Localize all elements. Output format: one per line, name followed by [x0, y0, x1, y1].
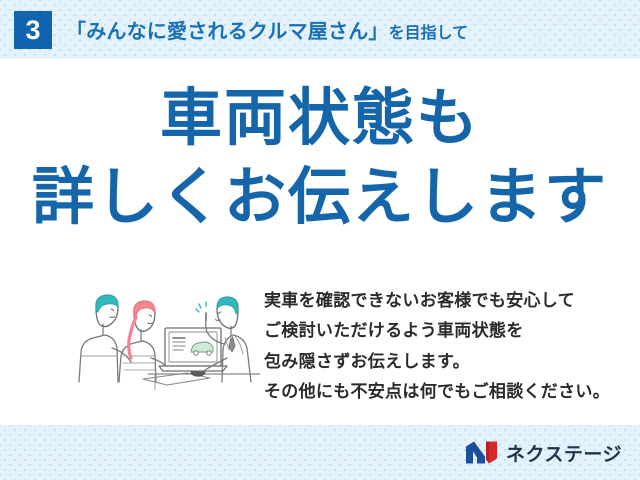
body-copy-line-2: ご検討いただけるよう車両状態を: [264, 316, 624, 346]
header-title-tail: を目指して: [389, 19, 469, 43]
banner-header: 3 「みんなに愛されるクルマ屋さん」を目指して: [0, 0, 640, 59]
body-copy-line-4: その他にも不安点は何でもご相談ください。: [264, 377, 624, 407]
body-copy-line-1: 実車を確認できないお客様でも安心して: [264, 286, 624, 316]
consultation-illustration-svg: [55, 278, 260, 390]
section-number-badge: 3: [14, 11, 52, 49]
nextage-n-logo-icon: [465, 441, 499, 465]
header-title-main: 「みんなに愛されるクルマ屋さん」: [66, 15, 389, 44]
header-title: 「みんなに愛されるクルマ屋さん」を目指して: [66, 15, 468, 44]
body-copy-block: 実車を確認できないお客様でも安心して ご検討いただけるよう車両状態を 包み隠さず…: [264, 286, 624, 407]
headline-line-2: 詳しくお伝えします: [0, 165, 640, 232]
banner-footer: ネクステージ: [0, 425, 640, 480]
headline-block: 車両状態も 詳しくお伝えします: [0, 86, 640, 232]
headline-line-1: 車両状態も: [0, 86, 640, 153]
body-copy-line-3: 包み隠さずお伝えします。: [264, 347, 624, 377]
consultation-illustration: [55, 278, 260, 390]
promo-banner: 3 「みんなに愛されるクルマ屋さん」を目指して 車両状態も 詳しくお伝えします: [0, 0, 640, 480]
brand-logo-text: ネクステージ: [506, 439, 622, 466]
brand-logo: ネクステージ: [465, 439, 622, 466]
